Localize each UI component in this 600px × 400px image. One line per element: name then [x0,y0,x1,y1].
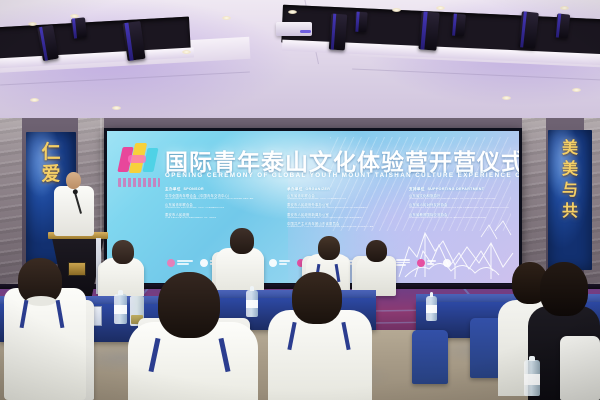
person-collar [26,296,56,306]
credit-item-en: FOREIGN AFFAIRS OFFICE OF TAIAN MUNICIPA… [287,207,387,210]
person-head [540,262,588,316]
stage-spotlight-4 [329,13,347,50]
downlight-11 [572,88,581,92]
podium-emblem [68,262,86,276]
person-head [292,272,342,324]
bottle-label [426,305,437,313]
downlight-7 [560,6,569,10]
water-bottle-6 [426,296,437,321]
credit-head-en: SPONSOR [183,187,203,191]
credit-item: 泰安市人民政府 THE PEOPLE'S GOVERNMENT OF TAIAN [165,213,265,220]
stage-spotlight-6 [418,11,439,50]
right-wall-banner: 美 美 与 共 [548,130,592,270]
chair-front-far-right [560,336,600,400]
downlight-4 [222,16,231,20]
downlight-1 [28,22,37,26]
credit-column-organizer: 承办单位 ORGANIZER 山东省青年联合会 SHANDONG PROVINC… [287,187,387,231]
sponsor-logo [396,258,410,267]
person-head [366,240,387,262]
camp-logo-subtext [118,178,160,187]
stage-spotlight-5 [354,12,367,33]
projector-led [300,30,311,33]
credit-item-en: SHANDONG PROVINCIAL YOUTH FEDERATION [287,198,387,201]
left-banner-char-1: 仁 [41,143,60,162]
stage-spotlight-9 [555,13,570,38]
camp-logo [120,143,158,177]
downlight-10 [502,96,511,100]
downlight-5 [392,8,401,12]
person-head [230,228,254,254]
sponsor-logo [269,258,290,267]
credit-item: 山东省文化和旅游厅 SHANDONG PROVINCIAL DEPARTMENT… [409,194,509,201]
bottle-label [114,305,127,314]
right-banner-char-2: 美 [562,162,578,178]
left-banner-char-2: 爱 [41,165,60,184]
right-banner-char-4: 共 [562,204,578,220]
right-banner-char-3: 与 [562,183,578,199]
credit-item: 泰安市人民政府外事办公室 FOREIGN AFFAIRS OFFICE OF T… [287,203,387,210]
credit-head-en: ORGANIZER [305,187,330,191]
credit-item-en: COMMUNIST YOUTH LEAGUE SHANDONG PROVINCI… [287,226,387,229]
sponsor-wordmark [427,260,436,264]
led-subtitle: OPENING CEREMONY OF GLOBAL YOUTH MOUNT T… [165,172,513,179]
person-head [158,272,220,338]
stage-spotlight-7 [451,13,466,36]
credit-item: 中国共产主义青年团山东省委员会 COMMUNIST YOUTH LEAGUE S… [287,222,387,229]
right-banner-characters: 美 美 与 共 [548,141,592,220]
sponsor-wordmark [279,260,290,264]
credit-item: 泰安市人民政府新闻办公室 INFORMATION OFFICE OF TAIAN… [287,213,387,220]
bottle-label [524,374,540,385]
sponsor-logo [443,258,451,267]
sponsor-mark [269,259,277,267]
water-bottle-2 [114,294,127,324]
blue-chair-1 [412,330,448,384]
person-torso [216,248,264,296]
stage-spotlight-3 [71,17,87,38]
credit-head-support: 支持单位 SUPPORTING DEPARTMENT [409,187,509,192]
credit-head-cn: 支持单位 [409,187,425,191]
credit-head-sponsor: 主办单位 SPONSOR [165,187,265,192]
downlight-6 [436,6,445,10]
credit-item-en: SHANDONG PROVINCIAL DEPARTMENT OF CULTUR… [409,198,509,201]
downlight-3 [182,50,191,54]
credit-item: 山东省青年联合会 SHANDONG PROVINCIAL YOUTH FEDER… [165,203,265,210]
sponsor-mark [417,259,425,267]
sponsor-logo [417,258,436,267]
credit-item-en: SHANDONG PROVINCIAL YOUTH FEDERATION [165,207,265,210]
credit-head-organizer: 承办单位 ORGANIZER [287,187,387,192]
conference-hall-photo: 仁 爱 美 美 与 共 国际青年泰山 [0,0,600,400]
sponsor-wordmark [396,259,410,266]
downlight-12 [288,10,297,14]
credit-item: 中华全国青年联合会（中国青年交流中心） ALL-CHINA YOUTH FEDE… [165,194,265,201]
water-bottle-3 [246,290,258,317]
mount-taishan-icon [395,207,515,279]
water-bottle-7 [524,360,540,396]
sponsor-mark [167,259,175,267]
credit-item-en: ALL-CHINA YOUTH FEDERATION / CHINA YOUTH… [165,198,265,201]
credit-item-en: THE PEOPLE'S GOVERNMENT OF TAIAN [165,217,265,220]
credit-head-cn: 主办单位 [165,187,181,191]
downlight-2 [70,14,79,18]
sponsor-mark [443,259,451,267]
credit-item-en: INFORMATION OFFICE OF TAIAN MUNICIPAL GO… [287,217,387,220]
sponsor-mark [200,259,208,267]
credit-column-sponsor: 主办单位 SPONSOR 中华全国青年联合会（中国青年交流中心） ALL-CHI… [165,187,265,231]
downlight-8 [30,98,39,102]
person-head [112,240,134,264]
logo-shape-accent [128,155,146,163]
bottle-label [246,300,258,308]
ceiling-projector [276,22,312,36]
credit-head-cn: 承办单位 [287,187,303,191]
sponsor-wordmark [177,260,193,264]
credit-item: 山东省青年联合会 SHANDONG PROVINCIAL YOUTH FEDER… [287,194,387,201]
person-head [318,236,340,260]
wall-column-far-left [0,118,22,293]
downlight-9 [112,106,121,110]
presenting-speaker-head [66,172,81,189]
right-banner-char-1: 美 [562,141,578,157]
sponsor-logo [167,258,193,267]
credit-head-en: SUPPORTING DEPARTMENT [427,187,484,191]
